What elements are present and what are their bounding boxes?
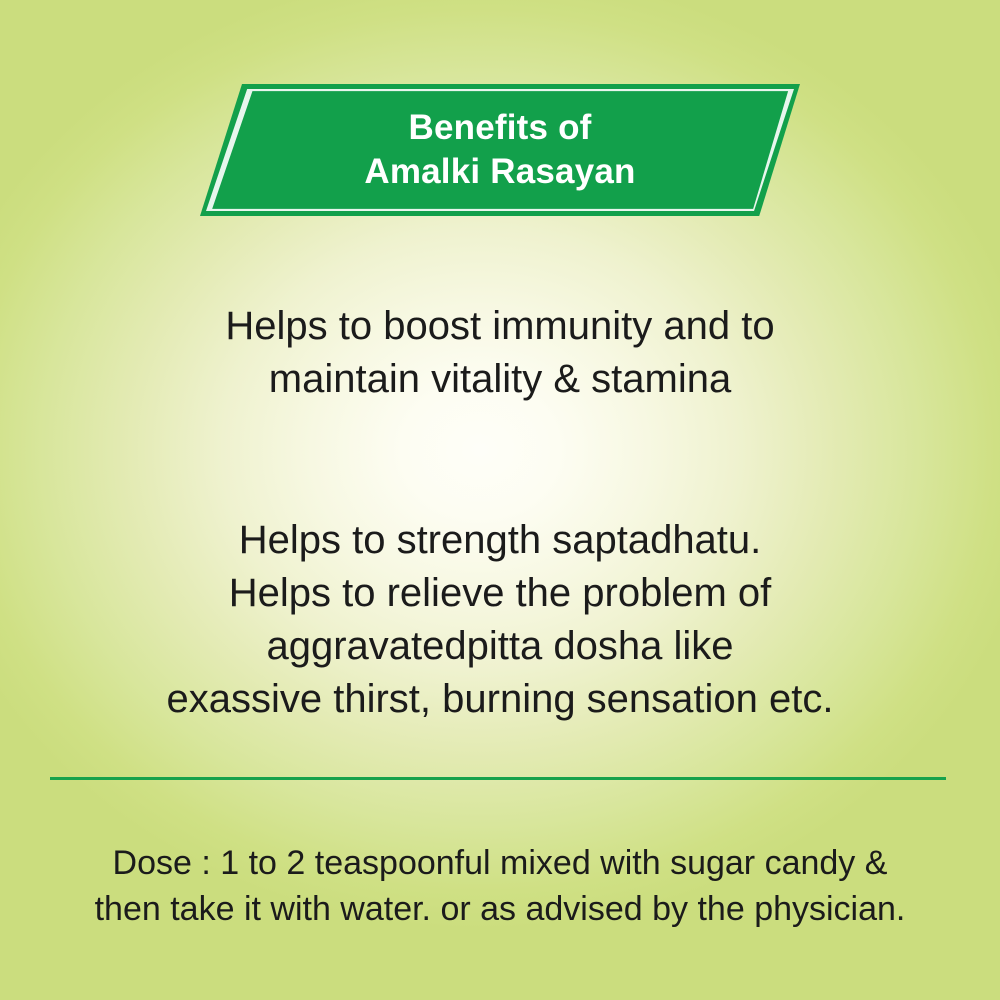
benefit-paragraph-2-line-1: Helps to strength saptadhatu. xyxy=(60,514,940,567)
page-title: Benefits of Amalki Rasayan xyxy=(200,84,800,216)
benefit-paragraph-2: Helps to strength saptadhatu. Helps to r… xyxy=(60,514,940,726)
benefits-poster: Benefits of Amalki Rasayan Helps to boos… xyxy=(0,0,1000,1000)
benefit-paragraph-2-line-3: aggravatedpitta dosha like xyxy=(60,620,940,673)
dosage-note-line-1: Dose : 1 to 2 teaspoonful mixed with sug… xyxy=(40,840,960,886)
benefits-body-text: Helps to boost immunity and to maintain … xyxy=(60,300,940,726)
benefit-paragraph-1-line-2: maintain vitality & stamina xyxy=(60,353,940,406)
page-title-line-2: Amalki Rasayan xyxy=(364,150,635,194)
dosage-note: Dose : 1 to 2 teaspoonful mixed with sug… xyxy=(40,840,960,932)
benefit-paragraph-2-line-2: Helps to relieve the problem of xyxy=(60,567,940,620)
benefit-paragraph-1: Helps to boost immunity and to maintain … xyxy=(60,300,940,406)
header-banner: Benefits of Amalki Rasayan xyxy=(200,84,800,216)
page-title-line-1: Benefits of xyxy=(408,106,591,150)
section-divider xyxy=(50,777,946,780)
paragraph-spacer xyxy=(60,406,940,514)
benefit-paragraph-2-line-4: exassive thirst, burning sensation etc. xyxy=(60,673,940,726)
benefit-paragraph-1-line-1: Helps to boost immunity and to xyxy=(60,300,940,353)
dosage-note-line-2: then take it with water. or as advised b… xyxy=(40,886,960,932)
